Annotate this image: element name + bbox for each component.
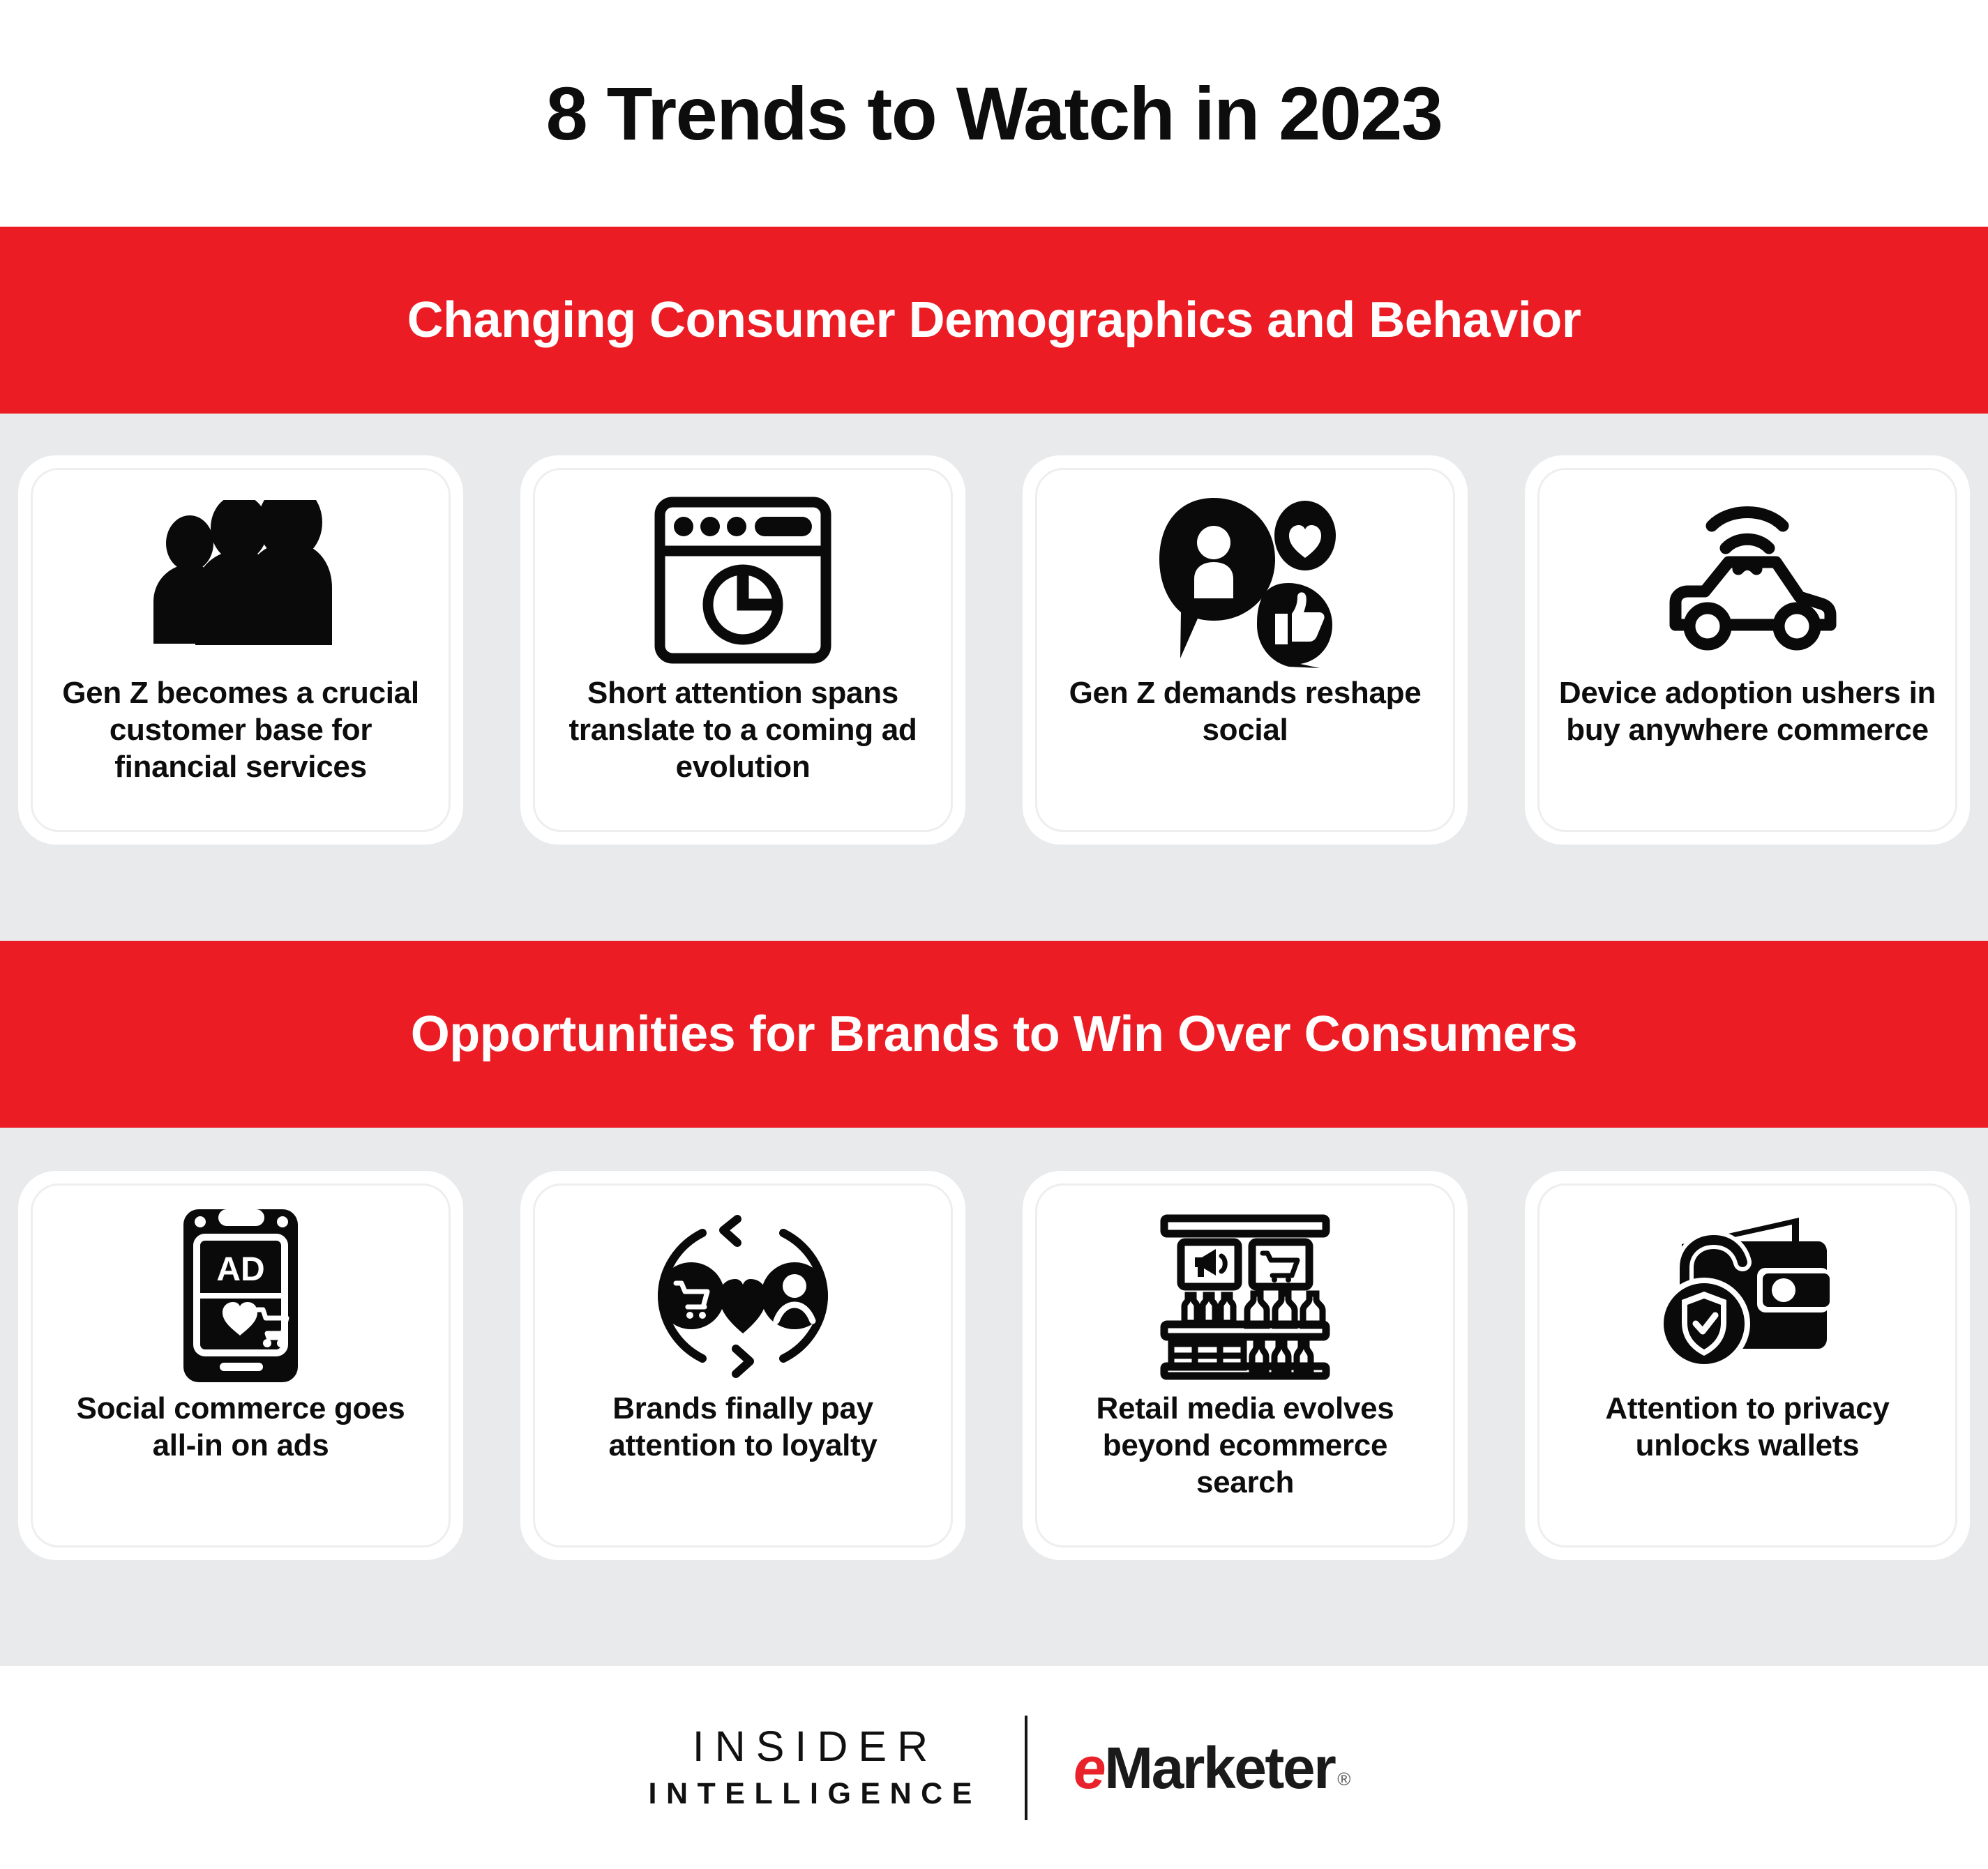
- emarketer-logo-e: e: [1074, 1734, 1104, 1802]
- trend-card-3-inner: Gen Z demands reshape social: [1035, 468, 1455, 832]
- title-bar: 8 Trends to Watch in 2023: [0, 0, 1988, 227]
- trend-card-5[interactable]: AD Social commerce goes all-in on ads: [18, 1171, 463, 1560]
- trend-card-1[interactable]: Gen Z becomes a crucial customer base fo…: [18, 455, 463, 845]
- trend-card-2-inner: Short attention spans translate to a com…: [533, 468, 953, 832]
- section-2-body: AD Social commerce goes all-in on ads: [0, 1128, 1988, 1666]
- card-row-2: AD Social commerce goes all-in on ads: [0, 1128, 1988, 1560]
- trend-card-7[interactable]: Retail media evolves beyond ecommerce se…: [1023, 1171, 1468, 1560]
- trend-card-6-inner: Brands finally pay attention to loyalty: [533, 1183, 953, 1548]
- section-1-body: Gen Z becomes a crucial customer base fo…: [0, 414, 1988, 941]
- section-banner-2: Opportunities for Brands to Win Over Con…: [0, 941, 1988, 1128]
- trend-card-6[interactable]: Brands finally pay attention to loyalty: [520, 1171, 965, 1560]
- infographic-page: 8 Trends to Watch in 2023 Changing Consu…: [0, 0, 1988, 1869]
- trend-card-3[interactable]: Gen Z demands reshape social: [1023, 455, 1468, 845]
- trend-card-3-label: Gen Z demands reshape social: [1055, 675, 1435, 749]
- insider-logo-line1: INSIDER: [682, 1724, 938, 1770]
- trend-card-8[interactable]: Attention to privacy unlocks wallets: [1525, 1171, 1970, 1560]
- trend-card-5-label: Social commerce goes all-in on ads: [51, 1391, 430, 1465]
- emarketer-logo-rest: Marketer: [1104, 1734, 1334, 1802]
- section-banner-2-text: Opportunities for Brands to Win Over Con…: [411, 1009, 1578, 1059]
- loyalty-cycle-icon: [654, 1205, 832, 1386]
- emarketer-logo: eMarketer®: [1027, 1734, 1349, 1802]
- trend-card-4-label: Device adoption ushers in buy anywhere c…: [1558, 675, 1937, 749]
- social-reactions-bubbles-icon: [1152, 490, 1338, 671]
- trend-card-8-label: Attention to privacy unlocks wallets: [1558, 1391, 1937, 1465]
- trend-card-8-inner: Attention to privacy unlocks wallets: [1537, 1183, 1957, 1548]
- connected-car-wifi-icon: [1650, 490, 1844, 671]
- insider-logo-line2: INTELLIGENCE: [639, 1777, 981, 1811]
- trend-card-2[interactable]: Short attention spans translate to a com…: [520, 455, 965, 845]
- trend-card-7-inner: Retail media evolves beyond ecommerce se…: [1035, 1183, 1455, 1548]
- svg-text:AD: AD: [216, 1251, 264, 1288]
- trend-card-7-label: Retail media evolves beyond ecommerce se…: [1055, 1391, 1435, 1501]
- wallet-lock-shield-icon: [1654, 1205, 1841, 1386]
- trend-card-1-inner: Gen Z becomes a crucial customer base fo…: [31, 468, 451, 832]
- trend-card-6-label: Brands finally pay attention to loyalty: [553, 1391, 933, 1465]
- footer-logos: INSIDER INTELLIGENCE eMarketer®: [0, 1666, 1988, 1869]
- registered-trademark-icon: ®: [1337, 1769, 1349, 1790]
- browser-window-clock-icon: [653, 490, 833, 671]
- trend-card-5-inner: AD Social commerce goes all-in on ads: [31, 1183, 451, 1548]
- insider-intelligence-logo: INSIDER INTELLIGENCE: [639, 1724, 1025, 1811]
- group-of-people-icon: [146, 490, 335, 671]
- trend-card-2-label: Short attention spans translate to a com…: [553, 675, 933, 785]
- trend-card-4[interactable]: Device adoption ushers in buy anywhere c…: [1525, 455, 1970, 845]
- retail-shelf-icon: [1154, 1205, 1336, 1386]
- trend-card-4-inner: Device adoption ushers in buy anywhere c…: [1537, 468, 1957, 832]
- section-banner-1-text: Changing Consumer Demographics and Behav…: [407, 295, 1581, 345]
- trend-card-1-label: Gen Z becomes a crucial customer base fo…: [51, 675, 430, 785]
- page-title: 8 Trends to Watch in 2023: [546, 76, 1443, 151]
- smartphone-ad-icon: AD: [179, 1205, 302, 1386]
- card-row-1: Gen Z becomes a crucial customer base fo…: [0, 414, 1988, 845]
- section-banner-1: Changing Consumer Demographics and Behav…: [0, 227, 1988, 414]
